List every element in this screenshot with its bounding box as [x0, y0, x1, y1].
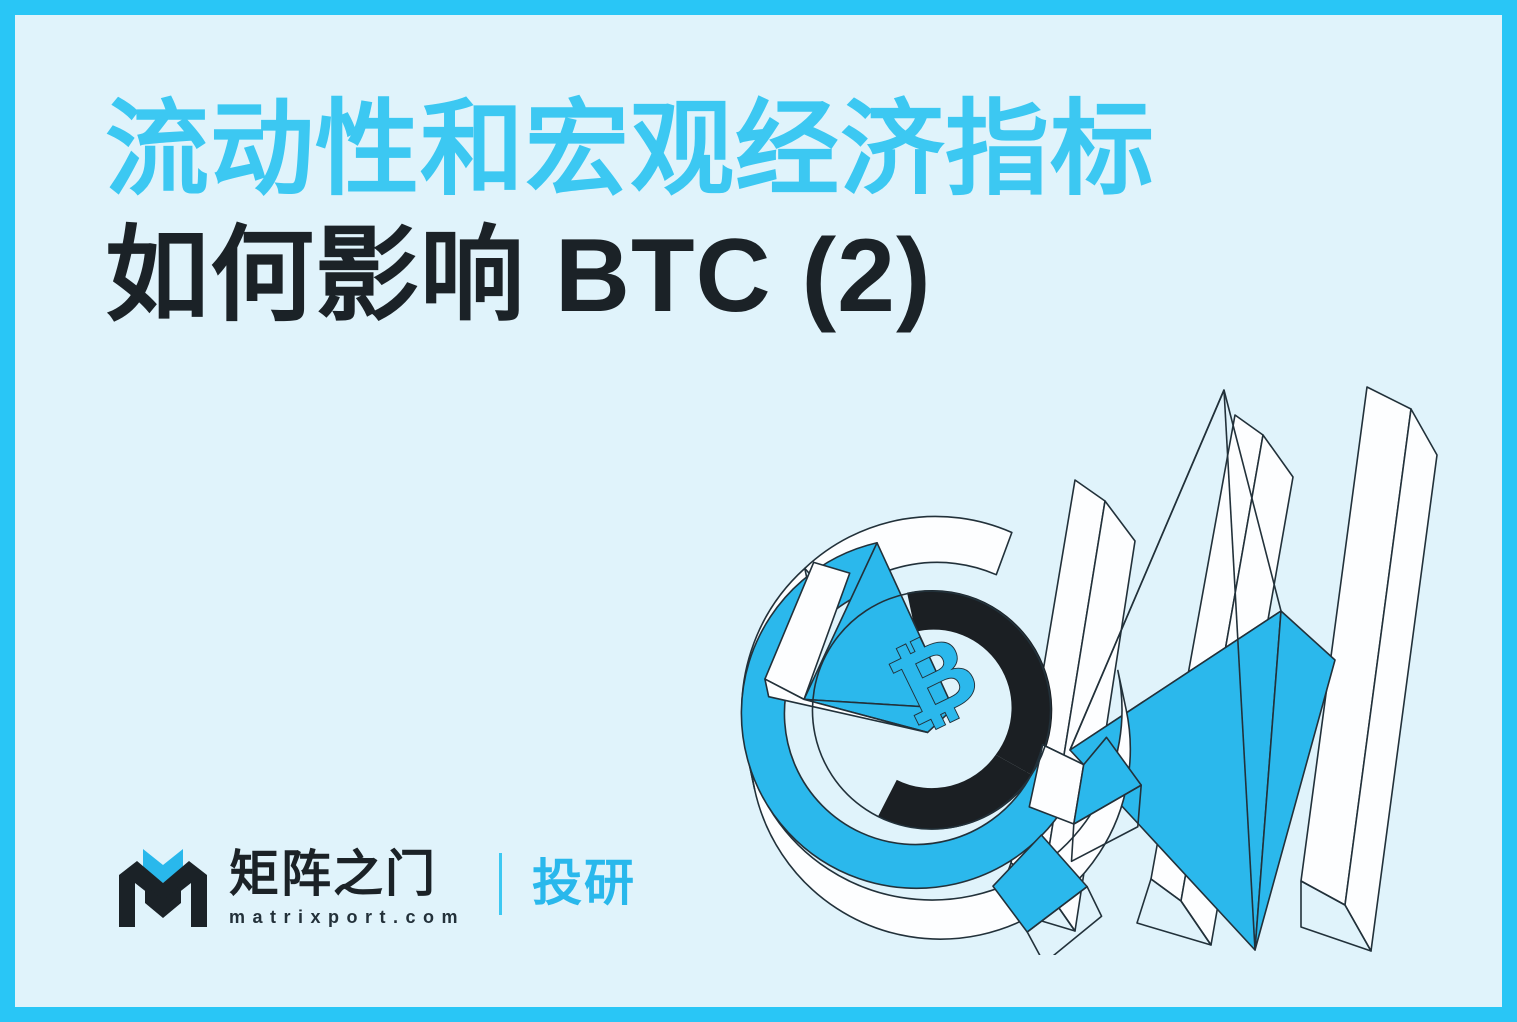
brand-logo-lockup: 矩阵之门 matrixport.com 投研	[115, 833, 636, 943]
series-tag: 投研	[532, 856, 636, 910]
title-line-secondary: 如何影响 BTC (2)	[105, 213, 1405, 339]
brand-name-cn: 矩阵之门	[229, 847, 465, 901]
title-block: 流动性和宏观经济指标 如何影响 BTC (2)	[105, 87, 1405, 339]
matrixport-m-logo-icon	[115, 845, 211, 931]
illustration-isometric-chart: .ln { stroke:#22313a; stroke-width:1.6; …	[695, 345, 1485, 955]
brand-wordmark: 矩阵之门 matrixport.com	[229, 845, 465, 931]
title-line-primary: 流动性和宏观经济指标	[105, 87, 1405, 213]
logo-divider	[499, 853, 502, 915]
poster-frame: 流动性和宏观经济指标 如何影响 BTC (2) .ln { stroke:#22…	[0, 0, 1517, 1022]
brand-domain: matrixport.com	[229, 904, 465, 930]
poster-canvas: 流动性和宏观经济指标 如何影响 BTC (2) .ln { stroke:#22…	[15, 15, 1502, 1007]
